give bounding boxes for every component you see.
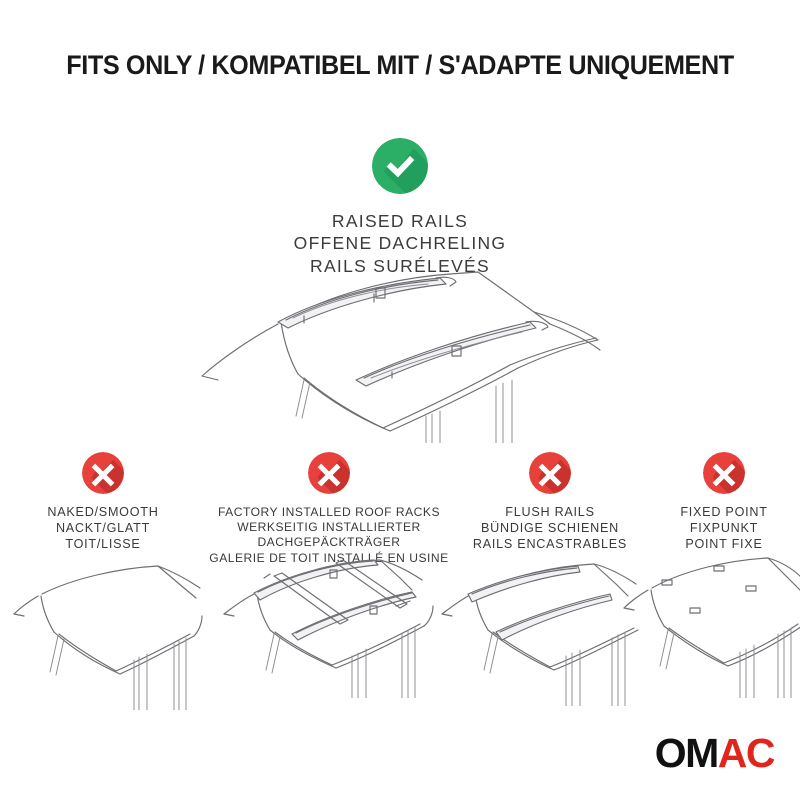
rejected-labels: NAKED/SMOOTH NACKT/GLATT TOIT/LISSE [47,505,158,553]
rejected-item-fixed-point: FIXED POINT FIXPUNKT POINT FIXE [648,452,800,553]
rejected-label-line-1: FIXED POINT [680,505,767,521]
rejected-label-line-1: FLUSH RAILS [473,505,627,521]
x-circle-icon [529,452,571,494]
omac-brand-logo: OMAC [655,733,774,774]
x-circle-icon [703,452,745,494]
illustration-flush-rails [438,556,642,706]
rejected-labels: FIXED POINT FIXPUNKT POINT FIXE [680,505,767,553]
rejected-item-flush-rails: FLUSH RAILS BÜNDIGE SCHIENEN RAILS ENCAS… [452,452,648,553]
brand-logo-part-2: AC [718,730,774,776]
rejected-label-line-1: FACTORY INSTALLED ROOF RACKS [209,505,448,520]
check-circle-icon [372,138,428,194]
x-circle-icon [308,452,350,494]
illustration-factory-roof-racks [212,548,450,698]
x-circle-icon [82,452,124,494]
rejected-item-naked-smooth: NAKED/SMOOTH NACKT/GLATT TOIT/LISSE [0,452,206,553]
rejected-label-line-3: RAILS ENCASTRABLES [473,537,627,553]
approved-roof-type: RAISED RAILS OFFENE DACHRELING RAILS SUR… [0,138,800,277]
illustration-naked-roof [8,560,204,710]
rejected-label-line-2: FIXPUNKT [680,521,767,537]
approved-label-de: OFFENE DACHRELING [294,232,507,254]
rejected-label-line-2: BÜNDIGE SCHIENEN [473,521,627,537]
rejected-label-line-3: TOIT/LISSE [47,537,158,553]
illustration-fixed-point [618,548,800,698]
rejected-label-line-1: NAKED/SMOOTH [47,505,158,521]
rejected-labels: FLUSH RAILS BÜNDIGE SCHIENEN RAILS ENCAS… [473,505,627,553]
illustration-raised-rails [178,268,622,443]
approved-label-en: RAISED RAILS [294,210,507,232]
page-title: FITS ONLY / KOMPATIBEL MIT / S'ADAPTE UN… [20,50,780,81]
brand-logo-part-1: OM [655,730,718,776]
rejected-label-line-2: NACKT/GLATT [47,521,158,537]
rejected-label-line-2: WERKSEITIG INSTALLIERTER [209,520,448,535]
